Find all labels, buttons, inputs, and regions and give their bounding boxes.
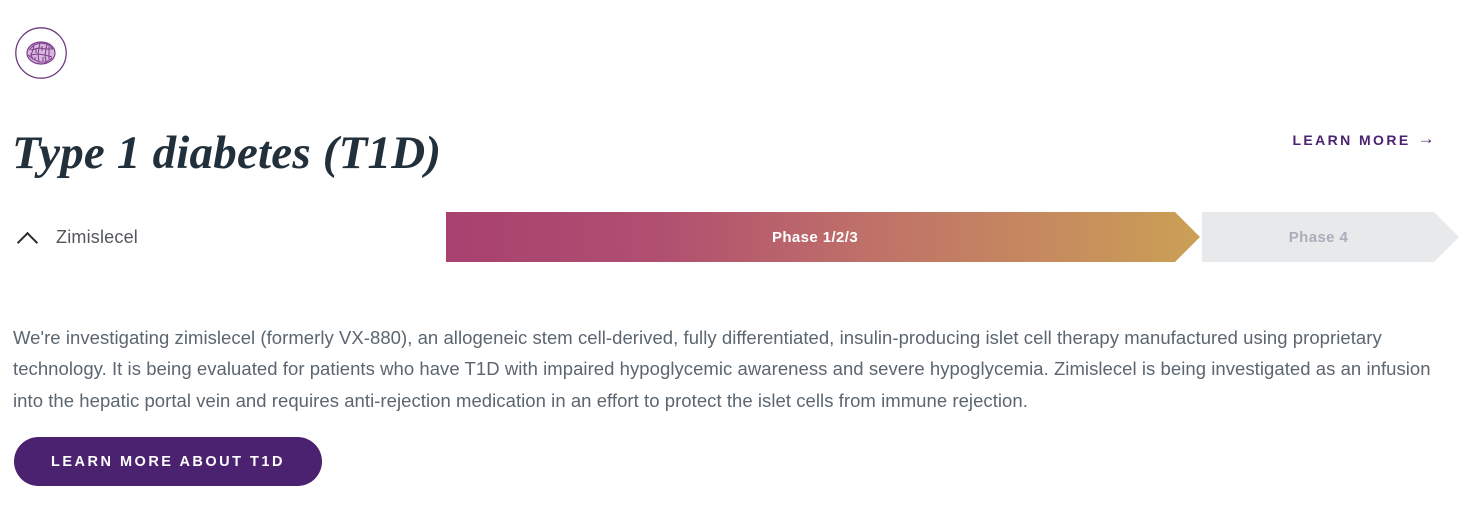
islet-cell-icon (14, 26, 68, 80)
phase-segment-label: Phase 4 (1289, 229, 1349, 246)
learn-more-about-t1d-button[interactable]: LEARN MORE ABOUT T1D (14, 437, 322, 486)
trial-row: Zimislecel Phase 1/2/3 Phase 4 (0, 212, 1461, 262)
drug-description: We're investigating zimislecel (formerly… (13, 322, 1445, 417)
phase-segment-active[interactable]: Phase 1/2/3 (446, 212, 1200, 262)
phase-segment-label: Phase 1/2/3 (772, 229, 858, 246)
phase-progress-bar: Phase 1/2/3 Phase 4 (446, 212, 1459, 262)
drug-accordion-toggle-zimislecel[interactable]: Zimislecel (18, 212, 138, 262)
learn-more-label: LEARN MORE (1292, 132, 1410, 148)
arrow-right-icon: → (1418, 130, 1437, 147)
learn-more-link[interactable]: LEARN MORE → (1292, 131, 1437, 148)
phase-segment-inactive[interactable]: Phase 4 (1202, 212, 1459, 262)
drug-name-label: Zimislecel (56, 227, 138, 248)
page-title: Type 1 diabetes (T1D) (12, 123, 441, 183)
chevron-up-icon[interactable] (18, 231, 40, 244)
